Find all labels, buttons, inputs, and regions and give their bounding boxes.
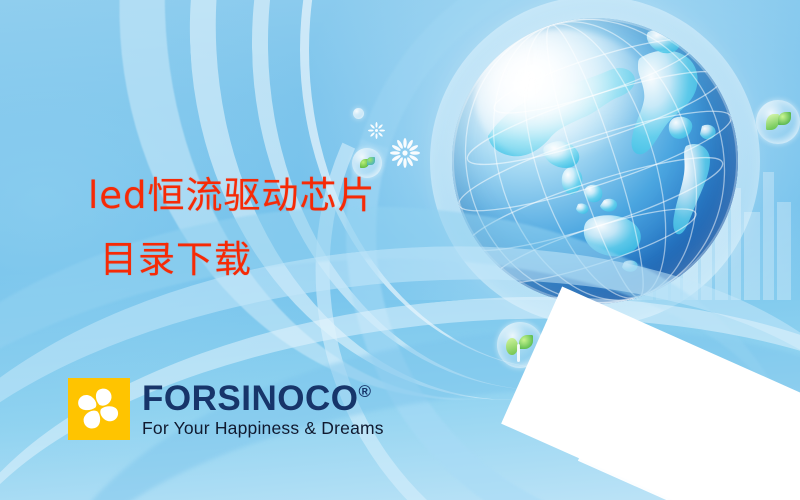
green-leaf-icon <box>519 335 533 349</box>
headline-line-2: 目录下载 <box>88 228 376 292</box>
globe-rim-light <box>452 18 738 304</box>
white-starburst-icon <box>390 138 420 168</box>
logo-mark <box>68 378 130 440</box>
logo-brand-name: FORSINOCO <box>142 381 358 416</box>
white-starburst-small-icon <box>368 122 385 139</box>
leaf-stem <box>517 344 520 362</box>
band-steel <box>634 453 800 500</box>
green-leaf-icon <box>778 112 791 125</box>
logo-brand-row: FORSINOCO ® <box>142 381 384 416</box>
four-petal-pinwheel-icon <box>68 378 130 440</box>
globe-sphere <box>452 18 738 304</box>
band-white-wide <box>578 433 800 500</box>
promo-poster: led恒流驱动芯片 目录下载 FORSINOCO ® For Your Happ… <box>0 0 800 500</box>
page-title: led恒流驱动芯片 目录下载 <box>88 164 376 292</box>
brand-logo: FORSINOCO ® For Your Happiness & Dreams <box>68 378 384 440</box>
bubble-with-green-leaf <box>497 322 543 368</box>
logo-text-block: FORSINOCO ® For Your Happiness & Dreams <box>142 381 384 438</box>
band-indigo <box>591 399 800 500</box>
headline-line-1: led恒流驱动芯片 <box>88 174 376 217</box>
bubble-small-plain <box>353 108 364 119</box>
registered-trademark-icon: ® <box>358 383 371 400</box>
band-white-thin <box>559 300 800 474</box>
bubble-with-green-leaf <box>756 100 800 144</box>
logo-tagline: For Your Happiness & Dreams <box>142 420 384 438</box>
globe <box>452 18 738 304</box>
